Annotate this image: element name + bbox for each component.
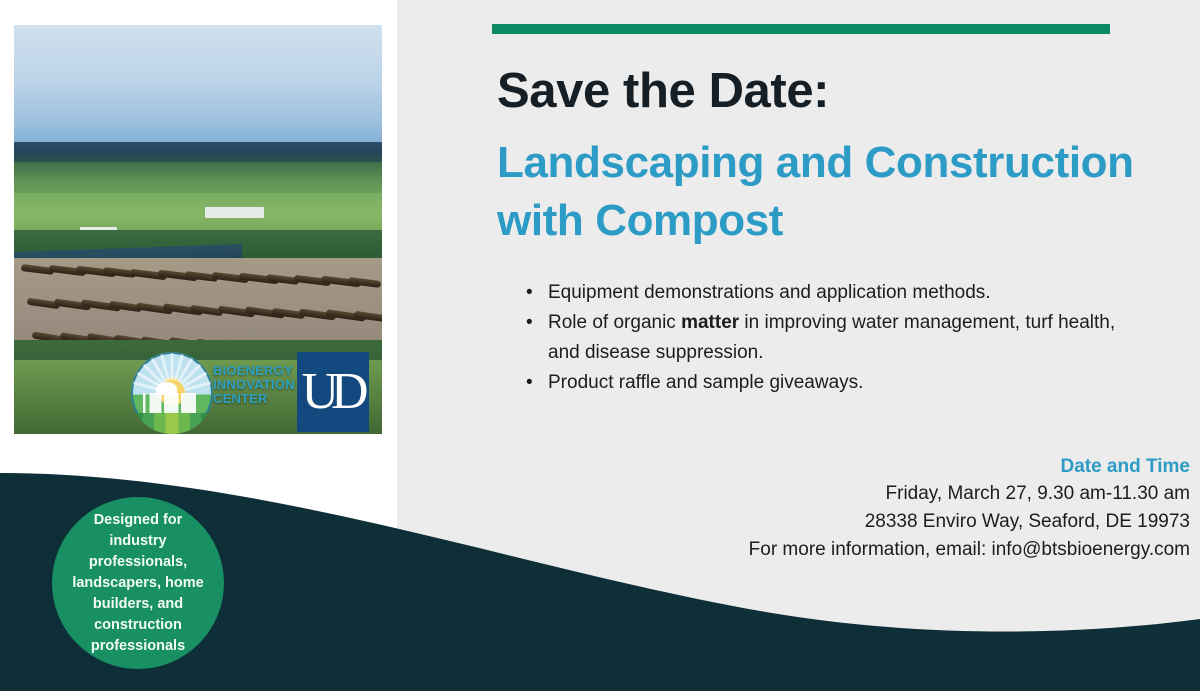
bioenergy-innovation-center-wordmark: BIOENERGY INNOVATION CENTER xyxy=(213,364,305,406)
subtitle-line-1: Landscaping and Construction xyxy=(497,134,1187,192)
page-title: Save the Date: xyxy=(497,63,1177,119)
university-of-delaware-logo-icon: UD xyxy=(297,352,369,432)
list-item: Equipment demonstrations and application… xyxy=(518,278,1138,308)
photo-sky xyxy=(14,25,382,148)
subtitle-line-2: with Compost xyxy=(497,192,1187,250)
bullet-text-2-pre: Role of organic xyxy=(548,312,681,333)
bullet-text-3: Product raffle and sample giveaways. xyxy=(548,372,863,393)
photo-windrow xyxy=(348,277,382,288)
logo-line-2: INNOVATION xyxy=(213,378,305,392)
ud-monogram: UD xyxy=(301,366,360,418)
list-item: Product raffle and sample giveaways. xyxy=(518,368,1138,398)
photo-windrow xyxy=(353,311,382,323)
bullet-text-2-emphasis: matter xyxy=(681,312,739,333)
hero-photo: BIOENERGY INNOVATION CENTER UD xyxy=(14,25,382,434)
list-item: Role of organic matter in improving wate… xyxy=(518,308,1138,368)
accent-bar xyxy=(492,24,1110,34)
bioenergy-innovation-center-logo-icon xyxy=(131,352,213,434)
page-subtitle: Landscaping and Construction with Compos… xyxy=(497,134,1187,250)
bullet-text-1: Equipment demonstrations and application… xyxy=(548,282,991,303)
green-arc-icon xyxy=(131,413,213,434)
logo-line-3: CENTER xyxy=(213,392,305,406)
logo-line-1: BIOENERGY xyxy=(213,364,305,378)
highlights-list: Equipment demonstrations and application… xyxy=(518,278,1138,398)
audience-badge: Designed for industry professionals, lan… xyxy=(52,497,224,669)
audience-text: Designed for industry professionals, lan… xyxy=(52,510,224,657)
flyer-canvas: BIOENERGY INNOVATION CENTER UD Save the … xyxy=(0,0,1200,691)
photo-barn-1 xyxy=(205,207,264,218)
